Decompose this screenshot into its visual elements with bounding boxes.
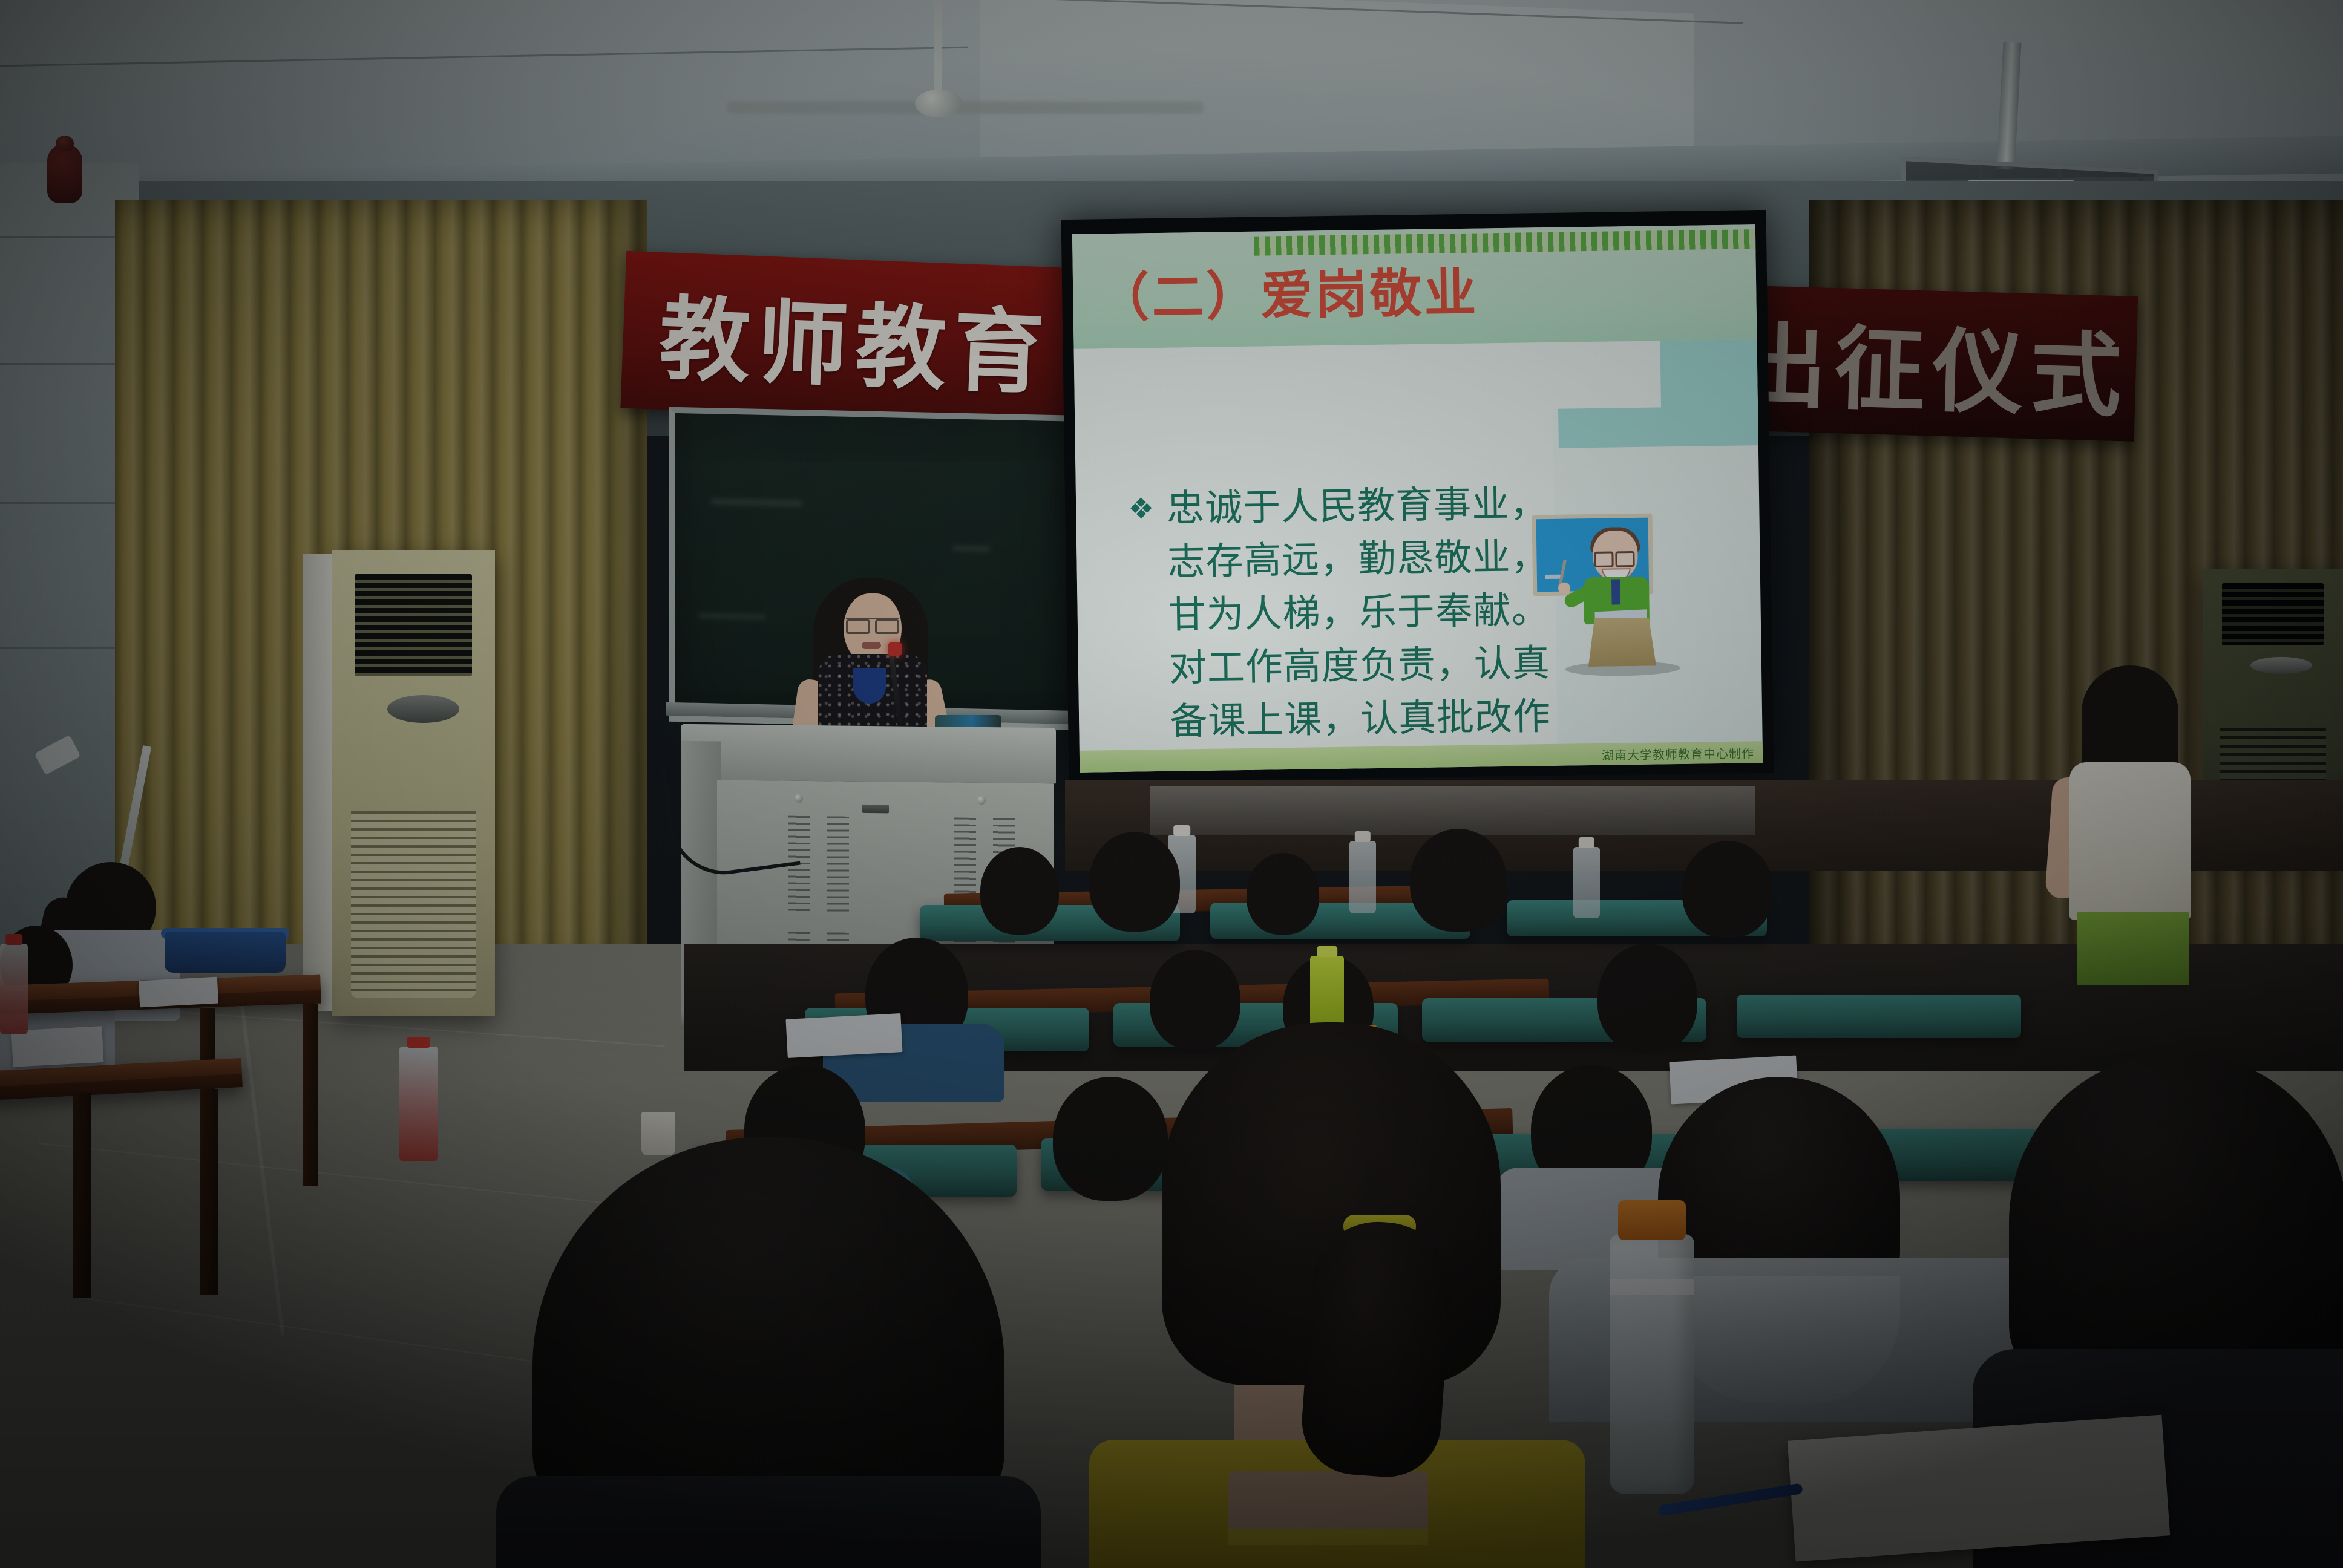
bottle-cap (1618, 1200, 1686, 1240)
blue-basin (165, 932, 286, 973)
person-ponytail (1299, 1217, 1455, 1480)
standing-attendee (2045, 665, 2221, 1004)
speaker-glasses (846, 618, 899, 630)
microphone-indicator-light (888, 642, 902, 656)
back-strap (1228, 1529, 1428, 1545)
clipart-glasses (1594, 551, 1613, 567)
paper-sheet (785, 1013, 902, 1058)
speaker-mouth (862, 642, 881, 649)
ac-top-vent (2222, 583, 2323, 645)
attendee-head (1682, 841, 1773, 938)
water-bottle (0, 944, 28, 1034)
water-bottle (1349, 841, 1376, 913)
ac-badge (2250, 657, 2312, 674)
desk-leg (200, 1089, 218, 1295)
foreground-person-left (532, 1137, 1004, 1568)
attendee-white-top (2069, 762, 2191, 920)
water-bottle (1573, 847, 1600, 918)
attendee-head (1247, 853, 1319, 935)
attendee-green-skirt (2077, 912, 2189, 985)
fire-alarm-icon (47, 144, 82, 203)
stage-rail-panel (1150, 786, 1755, 835)
fan-blade (950, 102, 1204, 114)
ac-badge (387, 695, 459, 723)
attendee-head (1410, 829, 1507, 932)
slide-body-text: 忠诚于人民教育事业，志存高远，勤恳敬业，甘为人梯，乐于奉献。对工作高度负责，认真… (1167, 477, 1553, 773)
fan-motor (915, 90, 962, 117)
bench-seat (1737, 995, 2021, 1038)
slide-teal-step (1551, 341, 1661, 409)
desk-leg (73, 1093, 91, 1298)
foreground-water-bottle (1610, 1234, 1694, 1494)
slide-title: （二）爱岗敬业 (1096, 250, 1479, 332)
attendee-head (980, 847, 1059, 935)
attendee-head (1089, 832, 1180, 932)
air-conditioner-left (332, 550, 495, 1016)
banner-left: 教师教育 (620, 251, 1110, 427)
paper-sheet (139, 977, 218, 1008)
person-hair (2009, 1053, 2343, 1391)
fan-rod (934, 0, 942, 94)
projector-mount (1997, 42, 2022, 169)
ac-top-vent (355, 574, 472, 676)
person-shoulders (496, 1476, 1041, 1568)
fan-blade (726, 102, 938, 114)
ceiling-fan (926, 0, 950, 136)
banner-right: 出征仪式 (1705, 284, 2138, 442)
desk-leg (303, 1004, 318, 1186)
foreground-woman-yellow-top (1053, 1022, 1597, 1568)
cartoon-teacher-icon (1527, 513, 1671, 678)
person-hair (532, 1137, 1004, 1524)
presentation-slide: （二）爱岗敬业 ❖ 忠诚于人民教育事业，志存高远，勤恳敬业，甘为人梯，乐于奉献。… (1072, 224, 1763, 773)
bullet-diamond-icon: ❖ (1128, 492, 1155, 526)
clipart-glasses (1615, 551, 1634, 567)
attendee-head (1597, 944, 1697, 1053)
water-bottle (399, 1047, 438, 1161)
bottle-label (1610, 1279, 1694, 1295)
lectern-handle (862, 805, 889, 813)
classroom-photo-scene: 教师教育 出征仪式 （二）爱岗敬业 ❖ 忠诚于人民教育事业，志存高远，勤恳敬业，… (0, 0, 2343, 1568)
clipart-tie (1611, 579, 1620, 604)
slide-footer-text: 湖南大学教师教育中心制作 (1602, 743, 1754, 763)
speaker-neckline (853, 668, 886, 704)
projection-screen: （二）爱岗敬业 ❖ 忠诚于人民教育事业，志存高远，勤恳敬业，甘为人梯，乐于奉献。… (1061, 210, 1774, 782)
clipart-podium (1588, 618, 1656, 667)
ac-bottom-louvers (351, 811, 475, 998)
ac-side-panel (303, 554, 332, 1011)
